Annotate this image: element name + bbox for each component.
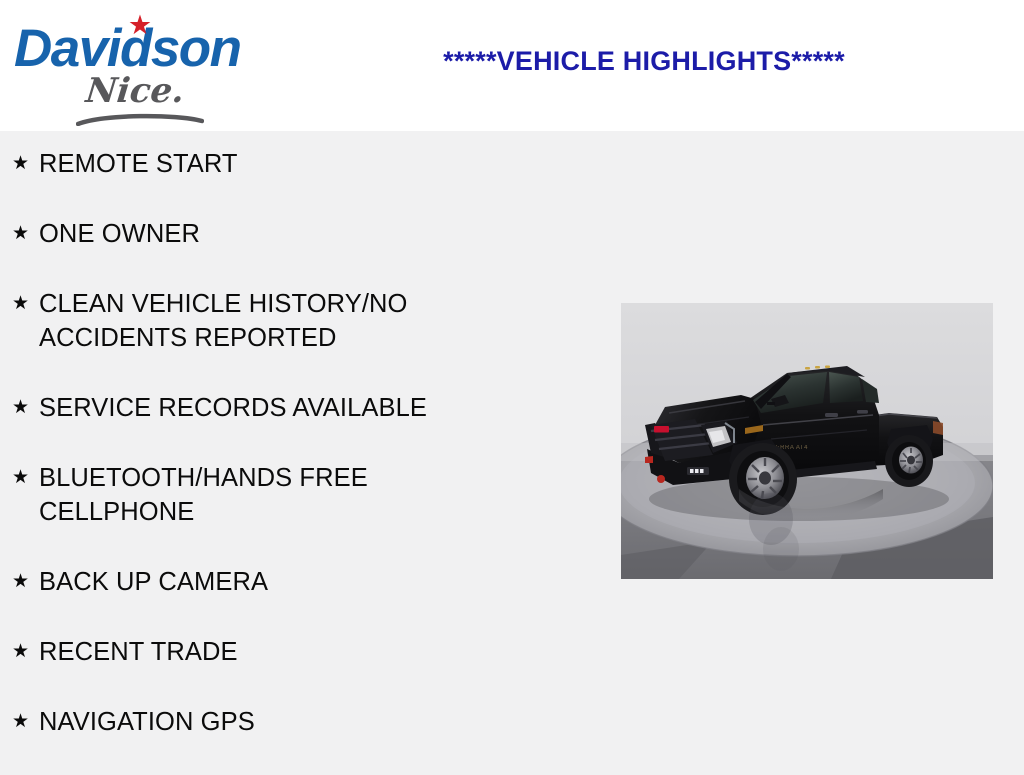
star-icon: ★	[127, 12, 153, 38]
list-item: ★ SERVICE RECORDS AVAILABLE	[0, 391, 540, 425]
content-area: ★ REMOTE START ★ ONE OWNER ★ CLEAN VEHIC…	[0, 131, 1024, 768]
logo-script-text: Nice.	[84, 74, 186, 108]
highlight-label: SERVICE RECORDS AVAILABLE	[39, 391, 540, 425]
list-item: ★ REMOTE START	[0, 147, 540, 181]
highlight-label: ONE OWNER	[39, 217, 540, 251]
star-bullet-icon: ★	[12, 705, 39, 739]
star-bullet-icon: ★	[12, 287, 39, 321]
highlight-label: BLUETOOTH/HANDS FREE CELLPHONE	[39, 461, 540, 529]
highlight-label: RECENT TRADE	[39, 635, 540, 669]
page-header: Davidson ★ Nice. *****VEHICLE HIGHLIGHTS…	[0, 0, 1024, 131]
star-bullet-icon: ★	[12, 565, 39, 599]
highlight-label: BACK UP CAMERA	[39, 565, 540, 599]
star-bullet-icon: ★	[12, 461, 39, 495]
vehicle-photo[interactable]: SIERRA AT4	[621, 303, 993, 579]
list-item: ★ RECENT TRADE	[0, 635, 540, 669]
highlight-label: NAVIGATION GPS	[39, 705, 540, 739]
star-bullet-icon: ★	[12, 217, 39, 251]
list-item: ★ BLUETOOTH/HANDS FREE CELLPHONE	[0, 461, 540, 529]
vehicle-highlights-list: ★ REMOTE START ★ ONE OWNER ★ CLEAN VEHIC…	[0, 131, 540, 775]
swoosh-underline-icon	[76, 112, 204, 126]
star-bullet-icon: ★	[12, 635, 39, 669]
star-bullet-icon: ★	[12, 391, 39, 425]
star-bullet-icon: ★	[12, 147, 39, 181]
page-title: *****VEHICLE HIGHLIGHTS*****	[270, 46, 1018, 77]
highlight-label: CLEAN VEHICLE HISTORY/NO ACCIDENTS REPOR…	[39, 287, 540, 355]
highlight-label: REMOTE START	[39, 147, 540, 181]
list-item: ★ BACK UP CAMERA	[0, 565, 540, 599]
list-item: ★ ONE OWNER	[0, 217, 540, 251]
dealer-logo[interactable]: Davidson ★ Nice.	[14, 8, 264, 123]
list-item: ★ NAVIGATION GPS	[0, 705, 540, 739]
vehicle-photo-illustration: SIERRA AT4	[621, 303, 993, 579]
list-item: ★ CLEAN VEHICLE HISTORY/NO ACCIDENTS REP…	[0, 287, 540, 355]
